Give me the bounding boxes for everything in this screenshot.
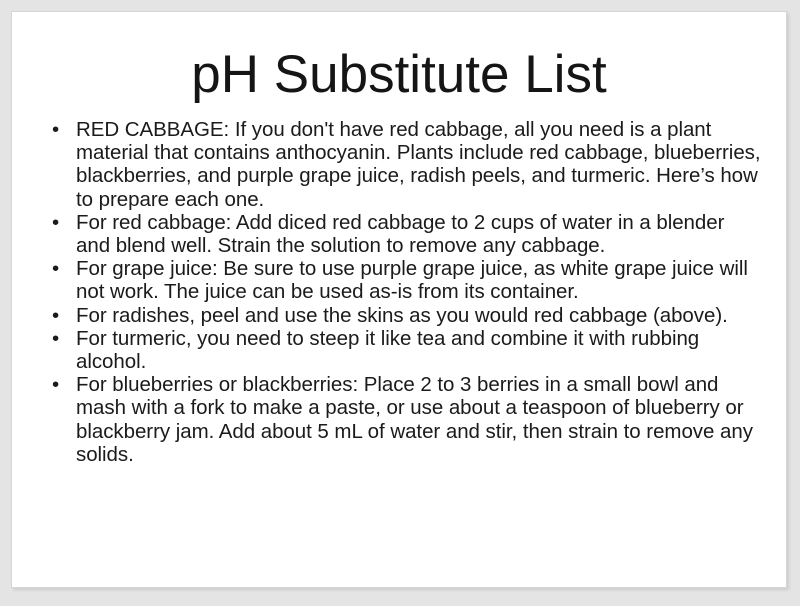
- list-item: • For turmeric, you need to steep it lik…: [42, 327, 764, 373]
- bullet-point-icon: •: [52, 257, 66, 280]
- list-item: • RED CABBAGE: If you don't have red cab…: [42, 118, 764, 211]
- bullet-point-icon: •: [52, 304, 66, 327]
- bullet-list: • RED CABBAGE: If you don't have red cab…: [42, 118, 764, 466]
- bullet-point-icon: •: [52, 211, 66, 234]
- page-title: pH Substitute List: [12, 47, 786, 103]
- bullet-point-icon: •: [52, 118, 66, 141]
- list-item-text: For turmeric, you need to steep it like …: [76, 327, 764, 373]
- bullet-point-icon: •: [52, 373, 66, 396]
- list-item: • For radishes, peel and use the skins a…: [42, 304, 764, 327]
- list-item-text: RED CABBAGE: If you don't have red cabba…: [76, 118, 764, 211]
- bullet-point-icon: •: [52, 327, 66, 350]
- list-item-text: For grape juice: Be sure to use purple g…: [76, 257, 764, 303]
- list-item-text: For red cabbage: Add diced red cabbage t…: [76, 211, 764, 257]
- list-item-text: For radishes, peel and use the skins as …: [76, 304, 764, 327]
- slide-backdrop: pH Substitute List • RED CABBAGE: If you…: [0, 0, 800, 606]
- list-item: • For grape juice: Be sure to use purple…: [42, 257, 764, 303]
- list-item: • For red cabbage: Add diced red cabbage…: [42, 211, 764, 257]
- slide-canvas: pH Substitute List • RED CABBAGE: If you…: [11, 11, 787, 588]
- list-item-text: For blueberries or blackberries: Place 2…: [76, 373, 764, 466]
- list-item: • For blueberries or blackberries: Place…: [42, 373, 764, 466]
